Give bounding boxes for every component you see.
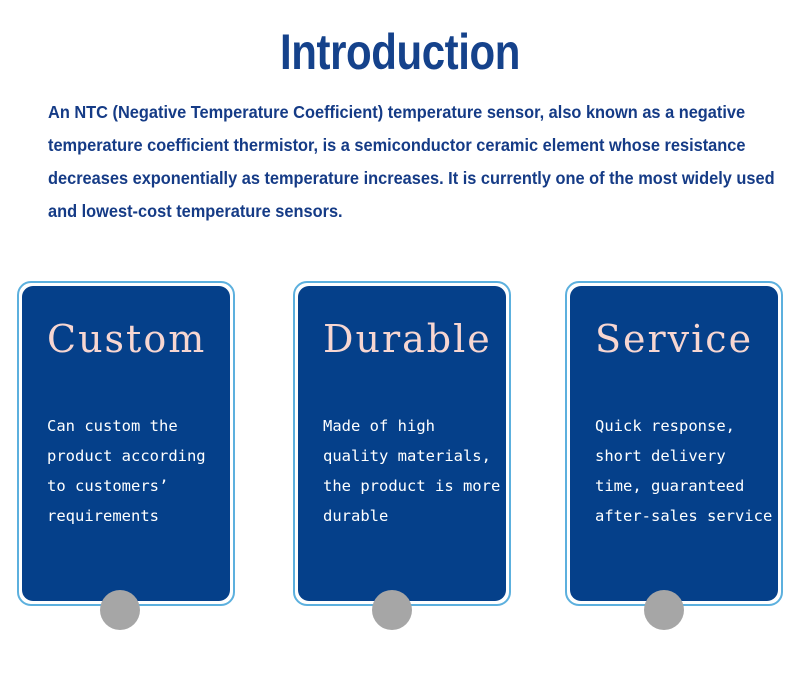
card-content: Durable Made of high quality materials, …	[295, 283, 509, 604]
card-body-service: Quick response, short delivery time, gua…	[595, 411, 800, 531]
card-body-custom: Can custom the product according to cust…	[47, 411, 262, 531]
page-title: Introduction	[64, 22, 736, 82]
card-accent-dot-durable	[372, 590, 412, 630]
card-title-service: Service	[595, 317, 753, 361]
feature-card-durable[interactable]: Durable Made of high quality materials, …	[293, 281, 511, 606]
card-content: Service Quick response, short delivery t…	[567, 283, 781, 604]
card-title-custom: Custom	[47, 317, 206, 361]
card-accent-dot-service	[644, 590, 684, 630]
card-title-durable: Durable	[323, 317, 492, 361]
feature-card-custom[interactable]: Custom Can custom the product according …	[17, 281, 235, 606]
card-accent-dot-custom	[100, 590, 140, 630]
slide-root: Introduction An NTC (Negative Temperatur…	[0, 0, 800, 698]
intro-paragraph: An NTC (Negative Temperature Coefficient…	[48, 96, 790, 228]
feature-cards-row: Custom Can custom the product according …	[0, 281, 800, 631]
feature-card-service[interactable]: Service Quick response, short delivery t…	[565, 281, 783, 606]
intro-paragraph-text: An NTC (Negative Temperature Coefficient…	[48, 96, 790, 228]
card-content: Custom Can custom the product according …	[19, 283, 233, 604]
card-body-durable: Made of high quality materials, the prod…	[323, 411, 538, 531]
